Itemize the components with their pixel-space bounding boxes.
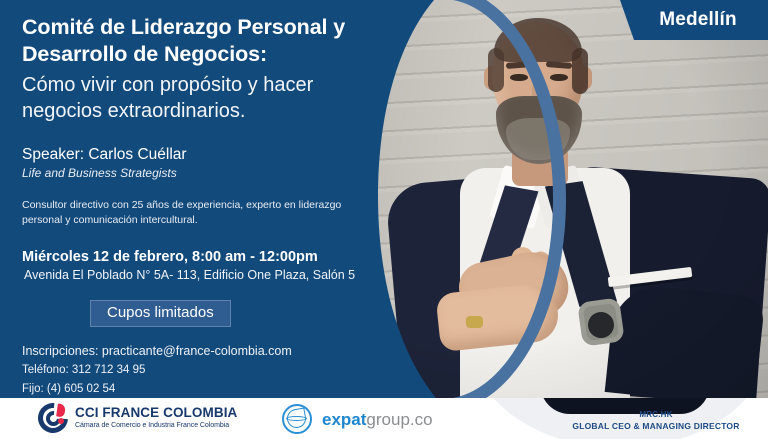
- expatgroup-logo: expatgroup.co: [282, 404, 433, 434]
- content-text: Comité de Liderazgo Personal y Desarroll…: [22, 14, 412, 399]
- page-subtitle: Cómo vivir con propósito y hacer negocio…: [22, 73, 412, 123]
- contact-block: Inscripciones: practicante@france-colomb…: [22, 341, 412, 399]
- event-flyer: Medellín Comité de Liderazgo Personal y …: [0, 0, 768, 439]
- cci-name: CCI FRANCE COLOMBIA: [75, 406, 237, 421]
- footer-bar: CCI FRANCE COLOMBIA Cámara de Comercio e…: [0, 398, 768, 439]
- city-badge-label: Medellín: [651, 9, 737, 31]
- contact-fax: Fijo: (4) 605 02 54: [22, 380, 412, 399]
- city-badge: Medellín: [620, 0, 768, 40]
- expat-word-part2: group: [366, 410, 409, 429]
- contact-phone: Teléfono: 312 712 34 95: [22, 361, 412, 380]
- globe-icon: [282, 404, 312, 434]
- cci-dot-icon: [58, 418, 64, 424]
- expat-word-part1: expat: [322, 410, 366, 429]
- page-title: Comité de Liderazgo Personal y Desarroll…: [22, 14, 412, 67]
- event-address: Avenida El Poblado N° 5A- 113, Edificio …: [24, 268, 412, 282]
- cci-france-colombia-logo: CCI FRANCE COLOMBIA Cámara de Comercio e…: [38, 403, 237, 433]
- cci-tagline: Cámara de Comercio e Industria France Co…: [75, 421, 237, 430]
- speaker-role: Life and Business Strategists: [22, 166, 412, 180]
- cci-wordmark: CCI FRANCE COLOMBIA Cámara de Comercio e…: [75, 406, 237, 430]
- mrc-title: GLOBAL CEO & MANAGING DIRECTOR: [556, 421, 756, 431]
- mrc-credit: MRC.HK GLOBAL CEO & MANAGING DIRECTOR: [556, 410, 756, 431]
- speaker-bio: Consultor directivo con 25 años de exper…: [22, 198, 412, 230]
- expat-word-part3: .co: [410, 410, 433, 429]
- limited-seats-badge: Cupos limitados: [90, 300, 231, 327]
- mrc-name: MRC.HK: [556, 410, 756, 419]
- expatgroup-wordmark: expatgroup.co: [322, 411, 433, 428]
- event-date: Miércoles 12 de febrero, 8:00 am - 12:00…: [22, 249, 412, 265]
- cupos-wrapper: Cupos limitados: [22, 300, 412, 327]
- speaker-name: Speaker: Carlos Cuéllar: [22, 146, 412, 164]
- cci-mark-icon: [38, 403, 68, 433]
- contact-email[interactable]: Inscripciones: practicante@france-colomb…: [22, 341, 412, 361]
